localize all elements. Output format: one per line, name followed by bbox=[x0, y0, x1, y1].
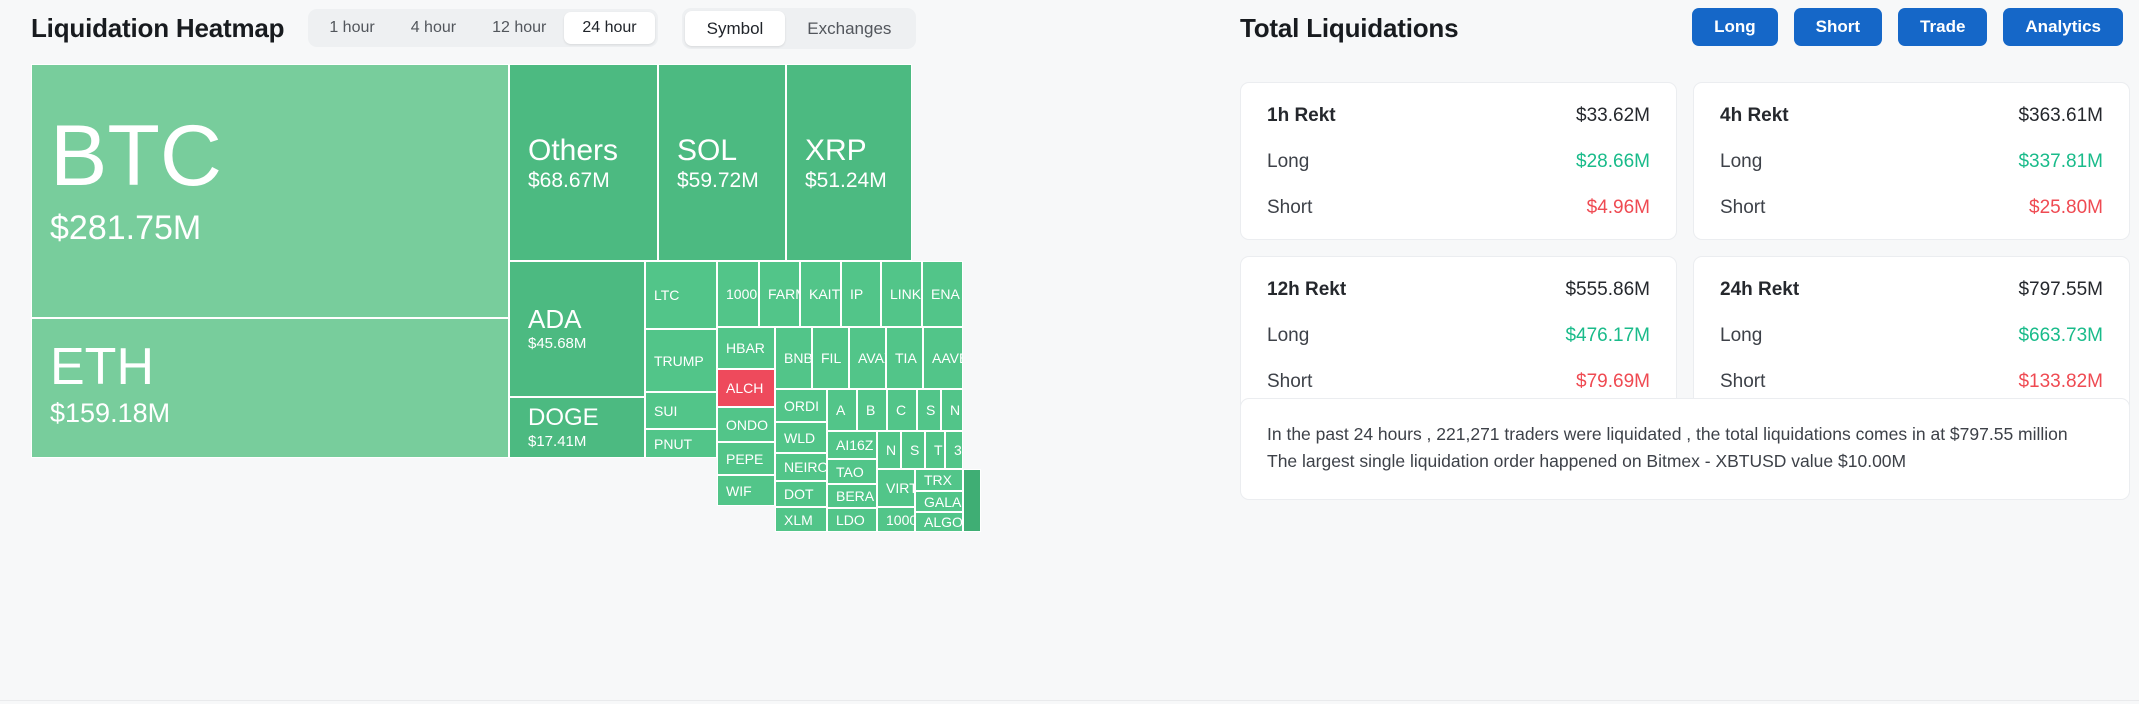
treemap-tile-ldo[interactable]: LDO bbox=[827, 508, 877, 532]
treemap-tile-dot[interactable]: DOT bbox=[775, 481, 827, 507]
treemap-tile-symbol: FARM bbox=[768, 287, 800, 301]
treemap-tile-farm[interactable]: FARM bbox=[759, 261, 800, 327]
treemap-tile-xrp[interactable]: XRP$51.24M bbox=[786, 64, 912, 261]
rekt-row-head: 4h Rekt$363.61M bbox=[1720, 105, 2103, 127]
rekt-row-label: 24h Rekt bbox=[1720, 279, 1799, 301]
rekt-row-value: $133.82M bbox=[2018, 371, 2103, 393]
treemap-tile-symbol: N bbox=[950, 403, 960, 417]
treemap-tile-symbol: AVAX bbox=[858, 351, 886, 365]
treemap-tile-alch[interactable]: ALCH bbox=[717, 369, 775, 407]
treemap-tile-value: $51.24M bbox=[805, 170, 887, 191]
treemap-tile-symbol: PEPE bbox=[726, 452, 763, 466]
treemap-tile-symbol: LINK bbox=[890, 287, 921, 301]
rekt-row-value: $4.96M bbox=[1587, 197, 1650, 219]
treemap-tile-virt[interactable]: VIRT bbox=[877, 469, 915, 507]
rekt-card: 4h Rekt$363.61MLong$337.81MShort$25.80M bbox=[1693, 82, 2130, 240]
rekt-row-value: $33.62M bbox=[1576, 105, 1650, 127]
treemap-tile-t[interactable]: T bbox=[925, 431, 945, 469]
treemap-tile-b[interactable]: B bbox=[857, 389, 887, 431]
treemap-tile-symbol: WLD bbox=[784, 431, 815, 445]
treemap-tile-bera[interactable]: BERA bbox=[827, 484, 877, 508]
treemap-tile-sol[interactable]: SOL$59.72M bbox=[658, 64, 786, 261]
treemap-tile-ordi[interactable]: ORDI bbox=[775, 389, 827, 422]
treemap-tile-value: $59.72M bbox=[677, 170, 759, 191]
treemap-tile-symbol: BERA bbox=[836, 489, 874, 503]
treemap-tile-kaito[interactable]: KAITO bbox=[800, 261, 841, 327]
rekt-row-long: Long$337.81M bbox=[1720, 151, 2103, 173]
rekt-row-label: Short bbox=[1720, 197, 1765, 219]
treemap-tile-symbol: DOT bbox=[784, 487, 814, 501]
rekt-row-value: $555.86M bbox=[1565, 279, 1650, 301]
rekt-row-long: Long$28.66M bbox=[1267, 151, 1650, 173]
treemap-tile-1000[interactable]: 1000 bbox=[717, 261, 759, 327]
treemap-tile-symbol: T bbox=[934, 443, 943, 457]
rekt-row-value: $79.69M bbox=[1576, 371, 1650, 393]
treemap-tile-s[interactable]: S bbox=[917, 389, 941, 431]
rekt-row-value: $476.17M bbox=[1565, 325, 1650, 347]
treemap-tile-symbol: 1000 bbox=[726, 287, 757, 301]
treemap-tile-n[interactable]: N bbox=[941, 389, 963, 431]
treemap-tile-symbol: N bbox=[886, 443, 896, 457]
treemap-tile-value: $281.75M bbox=[50, 211, 201, 245]
summary-card: In the past 24 hours , 221,271 traders w… bbox=[1240, 398, 2130, 500]
treemap-tile-gala[interactable]: GALA bbox=[915, 491, 963, 512]
treemap-tile-symbol: 1000 bbox=[886, 513, 915, 527]
treemap-tile-symbol: ADA bbox=[528, 306, 581, 332]
treemap-tile-symbol: SUI bbox=[654, 404, 677, 418]
rekt-row-value: $28.66M bbox=[1576, 151, 1650, 173]
treemap-tile-aave[interactable]: AAVE bbox=[923, 327, 963, 389]
treemap-tile-symbol: AI16Z bbox=[836, 438, 873, 452]
treemap-tile-bnb[interactable]: BNB bbox=[775, 327, 812, 389]
treemap-tile-sui[interactable]: SUI bbox=[645, 392, 717, 429]
treemap-tile-symbol: GALA bbox=[924, 495, 961, 509]
rekt-row-value: $797.55M bbox=[2018, 279, 2103, 301]
treemap-tile-btc[interactable]: BTC$281.75M bbox=[31, 64, 509, 318]
treemap-tile-symbol: XLM bbox=[784, 513, 813, 527]
grouping-option-symbol[interactable]: Symbol bbox=[685, 11, 786, 46]
rekt-row-label: Short bbox=[1267, 371, 1312, 393]
treemap-tile-link[interactable]: LINK bbox=[881, 261, 922, 327]
treemap-tile-xlm[interactable]: XLM bbox=[775, 507, 827, 532]
rekt-row-label: Long bbox=[1267, 325, 1309, 347]
rekt-row-short: Short$133.82M bbox=[1720, 371, 2103, 393]
treemap-tile-symbol: C bbox=[896, 403, 906, 417]
treemap-tile-symbol: B bbox=[866, 403, 875, 417]
treemap-tile-symbol: TIA bbox=[895, 351, 917, 365]
treemap-tile-symbol: AAVE bbox=[932, 351, 963, 365]
treemap-tile-a[interactable]: A bbox=[827, 389, 857, 431]
treemap-tile-symbol: FIL bbox=[821, 351, 841, 365]
rekt-row-label: 4h Rekt bbox=[1720, 105, 1789, 127]
rekt-cards: 1h Rekt$33.62MLong$28.66MShort$4.96M4h R… bbox=[1240, 82, 2130, 414]
timeframe-option-12-hour[interactable]: 12 hour bbox=[474, 12, 564, 44]
treemap-tile-value: $45.68M bbox=[528, 336, 586, 351]
treemap-tile-tia[interactable]: TIA bbox=[886, 327, 923, 389]
treemap-tile-symbol: IP bbox=[850, 287, 863, 301]
rekt-row-value: $337.81M bbox=[2018, 151, 2103, 173]
treemap-tile-symbol: ALCH bbox=[726, 381, 763, 395]
treemap-tile-ai16z[interactable]: AI16Z bbox=[827, 431, 877, 459]
rekt-row-short: Short$25.80M bbox=[1720, 197, 2103, 219]
treemap-tile-symbol: WIF bbox=[726, 484, 752, 498]
treemap-tile-ondo[interactable]: ONDO bbox=[717, 407, 775, 442]
treemap-tile-symbol: TRUMP bbox=[654, 354, 704, 368]
page-title: Liquidation Heatmap bbox=[31, 13, 284, 44]
treemap-tile-symbol: LTC bbox=[654, 288, 679, 302]
treemap-tile-eth[interactable]: ETH$159.18M bbox=[31, 318, 509, 458]
treemap-tile-symbol: HBAR bbox=[726, 341, 765, 355]
treemap-tile-others[interactable]: Others$68.67M bbox=[509, 64, 658, 261]
treemap-tile-symbol: S bbox=[910, 443, 919, 457]
rekt-row-long: Long$476.17M bbox=[1267, 325, 1650, 347]
treemap-tile-pepe[interactable]: PEPE bbox=[717, 442, 775, 475]
summary-line-2: The largest single liquidation order hap… bbox=[1267, 448, 2103, 475]
treemap-tile-symbol: ENA bbox=[931, 287, 960, 301]
trade-button[interactable]: Trade bbox=[1898, 8, 1987, 46]
page-divider bbox=[0, 700, 2139, 701]
short-button[interactable]: Short bbox=[1794, 8, 1882, 46]
rekt-row-value: $25.80M bbox=[2029, 197, 2103, 219]
treemap-tile-symbol: LDO bbox=[836, 513, 865, 527]
treemap-tile-wif[interactable]: WIF bbox=[717, 475, 775, 506]
summary-line-1: In the past 24 hours , 221,271 traders w… bbox=[1267, 421, 2103, 448]
rekt-row-label: 1h Rekt bbox=[1267, 105, 1336, 127]
treemap-tile-trx[interactable]: TRX bbox=[915, 469, 963, 491]
timeframe-option-1-hour[interactable]: 1 hour bbox=[311, 12, 392, 44]
treemap-tile-symbol: KAITO bbox=[809, 287, 841, 301]
treemap-tile-value: $17.41M bbox=[528, 434, 586, 449]
rekt-row-short: Short$79.69M bbox=[1267, 371, 1650, 393]
timeframe-selector[interactable]: 1 hour4 hour12 hour24 hour bbox=[308, 9, 657, 47]
rekt-card: 12h Rekt$555.86MLong$476.17MShort$79.69M bbox=[1240, 256, 1677, 414]
treemap-tile-symbol: PNUT bbox=[654, 437, 692, 451]
action-buttons: LongShortTradeAnalytics bbox=[1692, 8, 2123, 46]
treemap-tile-symbol: NEIRO bbox=[784, 460, 827, 474]
rekt-row-value: $663.73M bbox=[2018, 325, 2103, 347]
treemap-tile-algo[interactable]: ALGO bbox=[915, 512, 963, 532]
treemap-tile-symbol: ETH bbox=[50, 341, 154, 393]
rekt-row-label: Short bbox=[1267, 197, 1312, 219]
rekt-row-label: Long bbox=[1720, 325, 1762, 347]
treemap-tile-symbol: Others bbox=[528, 136, 618, 166]
timeframe-option-4-hour[interactable]: 4 hour bbox=[393, 12, 474, 44]
timeframe-option-24-hour[interactable]: 24 hour bbox=[564, 12, 654, 44]
treemap-tile-symbol: BTC bbox=[50, 113, 222, 199]
treemap-tile-symbol: SOL bbox=[677, 136, 737, 166]
rekt-row-label: Long bbox=[1267, 151, 1309, 173]
heatmap-panel: Liquidation Heatmap 1 hour4 hour12 hour2… bbox=[0, 0, 1224, 704]
treemap-tile-wld[interactable]: WLD bbox=[775, 422, 827, 453]
treemap-tile-hbar[interactable]: HBAR bbox=[717, 327, 775, 369]
liquidation-treemap[interactable]: BTC$281.75METH$159.18MOthers$68.67MSOL$5… bbox=[31, 64, 1224, 458]
rekt-row-label: Long bbox=[1720, 151, 1762, 173]
rekt-card: 1h Rekt$33.62MLong$28.66MShort$4.96M bbox=[1240, 82, 1677, 240]
rekt-row-short: Short$4.96M bbox=[1267, 197, 1650, 219]
rekt-row-long: Long$663.73M bbox=[1720, 325, 2103, 347]
treemap-tile-symbol: TRX bbox=[924, 473, 952, 487]
grouping-selector[interactable]: SymbolExchanges bbox=[682, 8, 917, 49]
treemap-tile-value: $68.67M bbox=[528, 170, 610, 191]
treemap-tile-1000[interactable]: 1000 bbox=[877, 507, 915, 532]
treemap-tile-symbol: ALGO bbox=[924, 515, 963, 529]
treemap-tile-s[interactable]: S bbox=[901, 431, 925, 469]
rekt-row-label: Short bbox=[1720, 371, 1765, 393]
treemap-tile-ena[interactable]: ENA bbox=[922, 261, 963, 327]
treemap-tile-symbol: TAO bbox=[836, 465, 864, 479]
treemap-tile-3[interactable]: 3 bbox=[945, 431, 963, 469]
treemap-tile-trump[interactable]: TRUMP bbox=[645, 329, 717, 392]
treemap-tile-doge[interactable]: DOGE$17.41M bbox=[509, 397, 645, 458]
rekt-card: 24h Rekt$797.55MLong$663.73MShort$133.82… bbox=[1693, 256, 2130, 414]
treemap-tile-value: $159.18M bbox=[50, 400, 170, 427]
treemap-tile-symbol: ONDO bbox=[726, 418, 768, 432]
rekt-row-head: 24h Rekt$797.55M bbox=[1720, 279, 2103, 301]
totals-title: Total Liquidations bbox=[1240, 13, 1458, 44]
rekt-row-label: 12h Rekt bbox=[1267, 279, 1346, 301]
treemap-tile-pnut[interactable]: PNUT bbox=[645, 429, 717, 458]
treemap-tile-ada[interactable]: ADA$45.68M bbox=[509, 261, 645, 397]
treemap-tile-c[interactable]: C bbox=[887, 389, 917, 431]
rekt-row-head: 1h Rekt$33.62M bbox=[1267, 105, 1650, 127]
treemap-tile-ip[interactable]: IP bbox=[841, 261, 881, 327]
totals-panel: Total Liquidations LongShortTradeAnalyti… bbox=[1224, 0, 2139, 704]
treemap-tile-tao[interactable]: TAO bbox=[827, 459, 877, 484]
treemap-tile-neiro[interactable]: NEIRO bbox=[775, 453, 827, 481]
treemap-tile-symbol: ORDI bbox=[784, 399, 819, 413]
treemap-tile-n[interactable]: N bbox=[877, 431, 901, 469]
liquidation-dashboard: Liquidation Heatmap 1 hour4 hour12 hour2… bbox=[0, 0, 2139, 704]
treemap-tile-symbol: S bbox=[926, 403, 935, 417]
rekt-row-head: 12h Rekt$555.86M bbox=[1267, 279, 1650, 301]
treemap-tile-symbol: 3 bbox=[954, 443, 962, 457]
treemap-tile-symbol: A bbox=[836, 403, 845, 417]
treemap-tile-avax[interactable]: AVAX bbox=[849, 327, 886, 389]
treemap-tile-symbol: BNB bbox=[784, 351, 812, 365]
long-button[interactable]: Long bbox=[1692, 8, 1778, 46]
treemap-tile-fil[interactable]: FIL bbox=[812, 327, 849, 389]
analytics-button[interactable]: Analytics bbox=[2003, 8, 2123, 46]
treemap-tile-symbol: XRP bbox=[805, 136, 867, 166]
heatmap-header: Liquidation Heatmap 1 hour4 hour12 hour2… bbox=[31, 6, 916, 50]
rekt-row-value: $363.61M bbox=[2018, 105, 2103, 127]
treemap-tile-symbol: VIRT bbox=[886, 481, 915, 495]
treemap-tile-symbol: DOGE bbox=[528, 406, 599, 430]
treemap-tile-ltc[interactable]: LTC bbox=[645, 261, 717, 329]
grouping-option-exchanges[interactable]: Exchanges bbox=[785, 11, 913, 46]
treemap-tile[interactable] bbox=[963, 469, 981, 532]
